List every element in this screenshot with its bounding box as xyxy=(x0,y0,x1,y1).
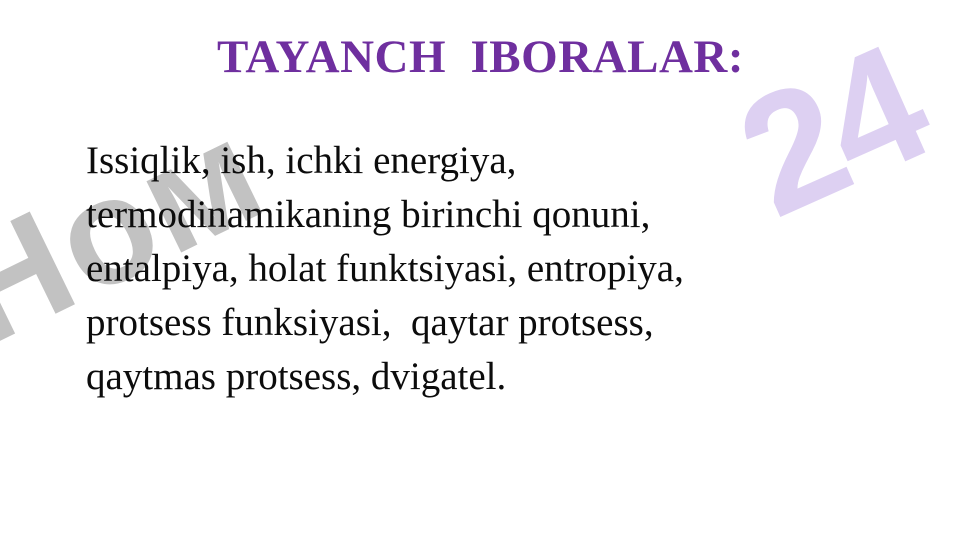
body-line-5: qaytmas protsess, dvigatel. xyxy=(86,350,916,404)
slide-canvas: 24 Ном TAYANCH IBORALAR: Issiqlik, ish, … xyxy=(0,0,961,540)
body-line-1: Issiqlik, ish, ichki energiya, xyxy=(86,134,916,188)
body-line-2: termodinamikaning birinchi qonuni, xyxy=(86,188,916,242)
slide-content: TAYANCH IBORALAR: Issiqlik, ish, ichki e… xyxy=(0,0,961,540)
body-line-4: protsess funksiyasi, qaytar protsess, xyxy=(86,296,916,350)
body-line-3: entalpiya, holat funktsiyasi, entropiya, xyxy=(86,242,916,296)
slide-title: TAYANCH IBORALAR: xyxy=(0,30,961,84)
slide-body-text: Issiqlik, ish, ichki energiya, termodina… xyxy=(86,134,916,404)
